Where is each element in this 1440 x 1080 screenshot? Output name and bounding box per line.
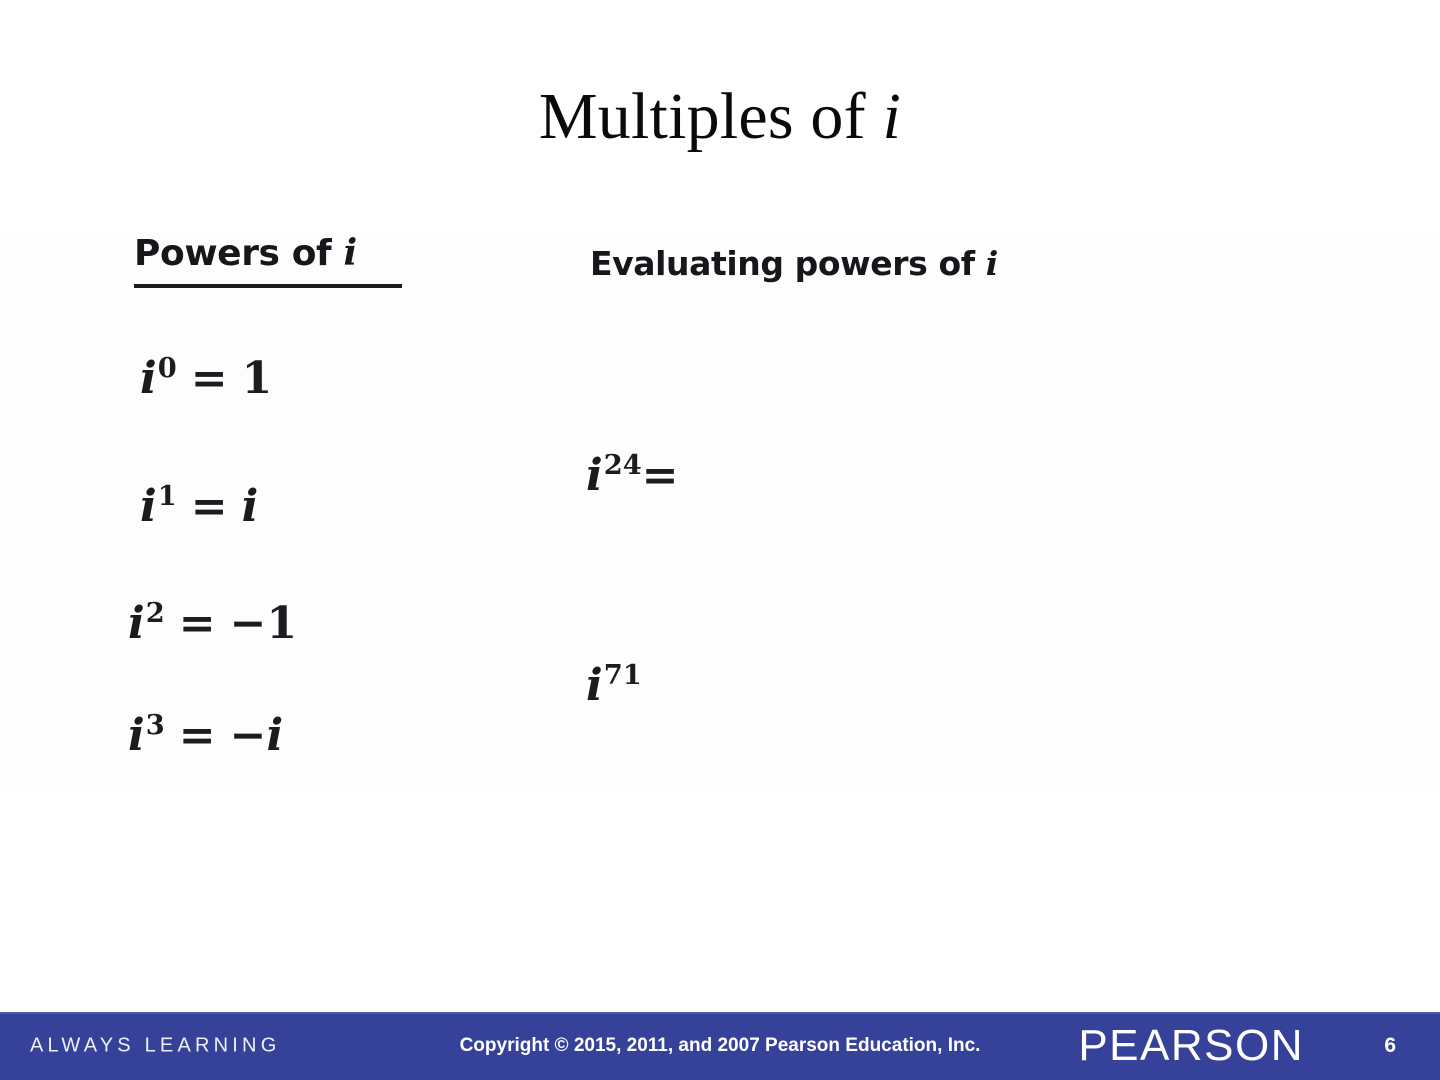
equation-i-power-71: i71: [586, 664, 642, 708]
equation-base: i: [586, 660, 603, 711]
equation-operator: =: [179, 598, 216, 649]
right-column-heading-variable: i: [986, 244, 998, 283]
equation-base: i: [128, 598, 145, 649]
equation-exponent: 2: [146, 597, 165, 629]
page-title: Multiples of i: [0, 82, 1440, 151]
equation-base: i: [140, 481, 157, 532]
equation-exponent: 3: [146, 709, 165, 741]
equation-exponent: 24: [604, 449, 642, 481]
page-title-variable: i: [883, 80, 902, 153]
equation-i-power-0: i0=1: [140, 357, 272, 401]
equation-i-power-1: i1=i: [140, 485, 258, 529]
equation-result: 1: [242, 353, 273, 404]
right-column-heading-text: Evaluating powers of: [590, 244, 986, 283]
equation-result: −1: [230, 598, 297, 649]
content-area: Powers of i Evaluating powers of i i0=1 …: [0, 232, 1440, 792]
left-column-heading-text: Powers of: [134, 233, 343, 274]
equation-operator: =: [191, 481, 228, 532]
equation-operator: =: [179, 710, 216, 761]
slide-canvas: Multiples of i Powers of i Evaluating po…: [0, 0, 1440, 1080]
equation-base: i: [140, 353, 157, 404]
equation-exponent: 0: [158, 352, 177, 384]
equation-result: −i: [230, 710, 284, 761]
footer-top-hairline: [0, 1012, 1440, 1014]
equation-operator: =: [191, 353, 228, 404]
left-column-heading-variable: i: [343, 232, 356, 274]
equation-base: i: [586, 450, 603, 501]
right-column-heading: Evaluating powers of i: [590, 244, 998, 283]
equation-exponent: 1: [158, 480, 177, 512]
left-column-heading: Powers of i: [134, 232, 357, 274]
equation-exponent: 71: [604, 659, 642, 691]
equation-base: i: [128, 710, 145, 761]
slide-page-number: 6: [1384, 1034, 1396, 1058]
left-column-heading-underline: [134, 284, 402, 288]
page-title-text: Multiples of: [539, 80, 883, 153]
equation-result: i: [242, 481, 259, 532]
footer-bar: ALWAYS LEARNING Copyright © 2015, 2011, …: [0, 1012, 1440, 1080]
equation-i-power-3: i3=−i: [128, 714, 283, 758]
pearson-logo: PEARSON: [1078, 1021, 1304, 1071]
equation-i-power-24: i24=: [586, 454, 679, 498]
equation-i-power-2: i2=−1: [128, 602, 297, 646]
equation-operator: =: [642, 450, 679, 501]
